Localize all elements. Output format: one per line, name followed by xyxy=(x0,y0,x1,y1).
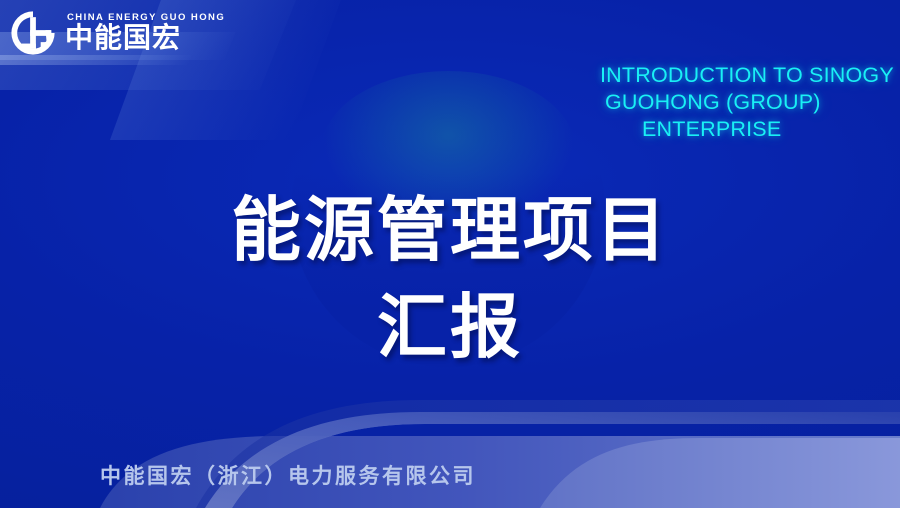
english-heading-line-2: GUOHONG (GROUP) xyxy=(600,89,900,116)
english-heading-line-1: INTRODUCTION TO SINOGY xyxy=(600,62,900,89)
company-name-footer: 中能国宏（浙江）电力服务有限公司 xyxy=(100,466,476,487)
logo-chinese-name: 中能国宏 xyxy=(65,24,225,53)
guohong-circle-logo-icon xyxy=(9,9,57,57)
english-heading-line-3: ENTERPRISE xyxy=(600,116,900,143)
presentation-title-slide: CHINA ENERGY GUO HONG 中能国宏 INTRODUCTION … xyxy=(0,0,900,508)
english-heading: INTRODUCTION TO SINOGY GUOHONG (GROUP) E… xyxy=(600,62,900,143)
slide-main-title: 能源管理项目 汇报 xyxy=(0,182,900,376)
bottom-swoosh-decoration xyxy=(0,380,900,508)
brand-logo[interactable]: CHINA ENERGY GUO HONG 中能国宏 xyxy=(9,9,225,57)
logo-text: CHINA ENERGY GUO HONG 中能国宏 xyxy=(65,13,225,52)
main-title-line-1: 能源管理项目 xyxy=(231,189,669,271)
main-title-line-2: 汇报 xyxy=(0,279,900,376)
